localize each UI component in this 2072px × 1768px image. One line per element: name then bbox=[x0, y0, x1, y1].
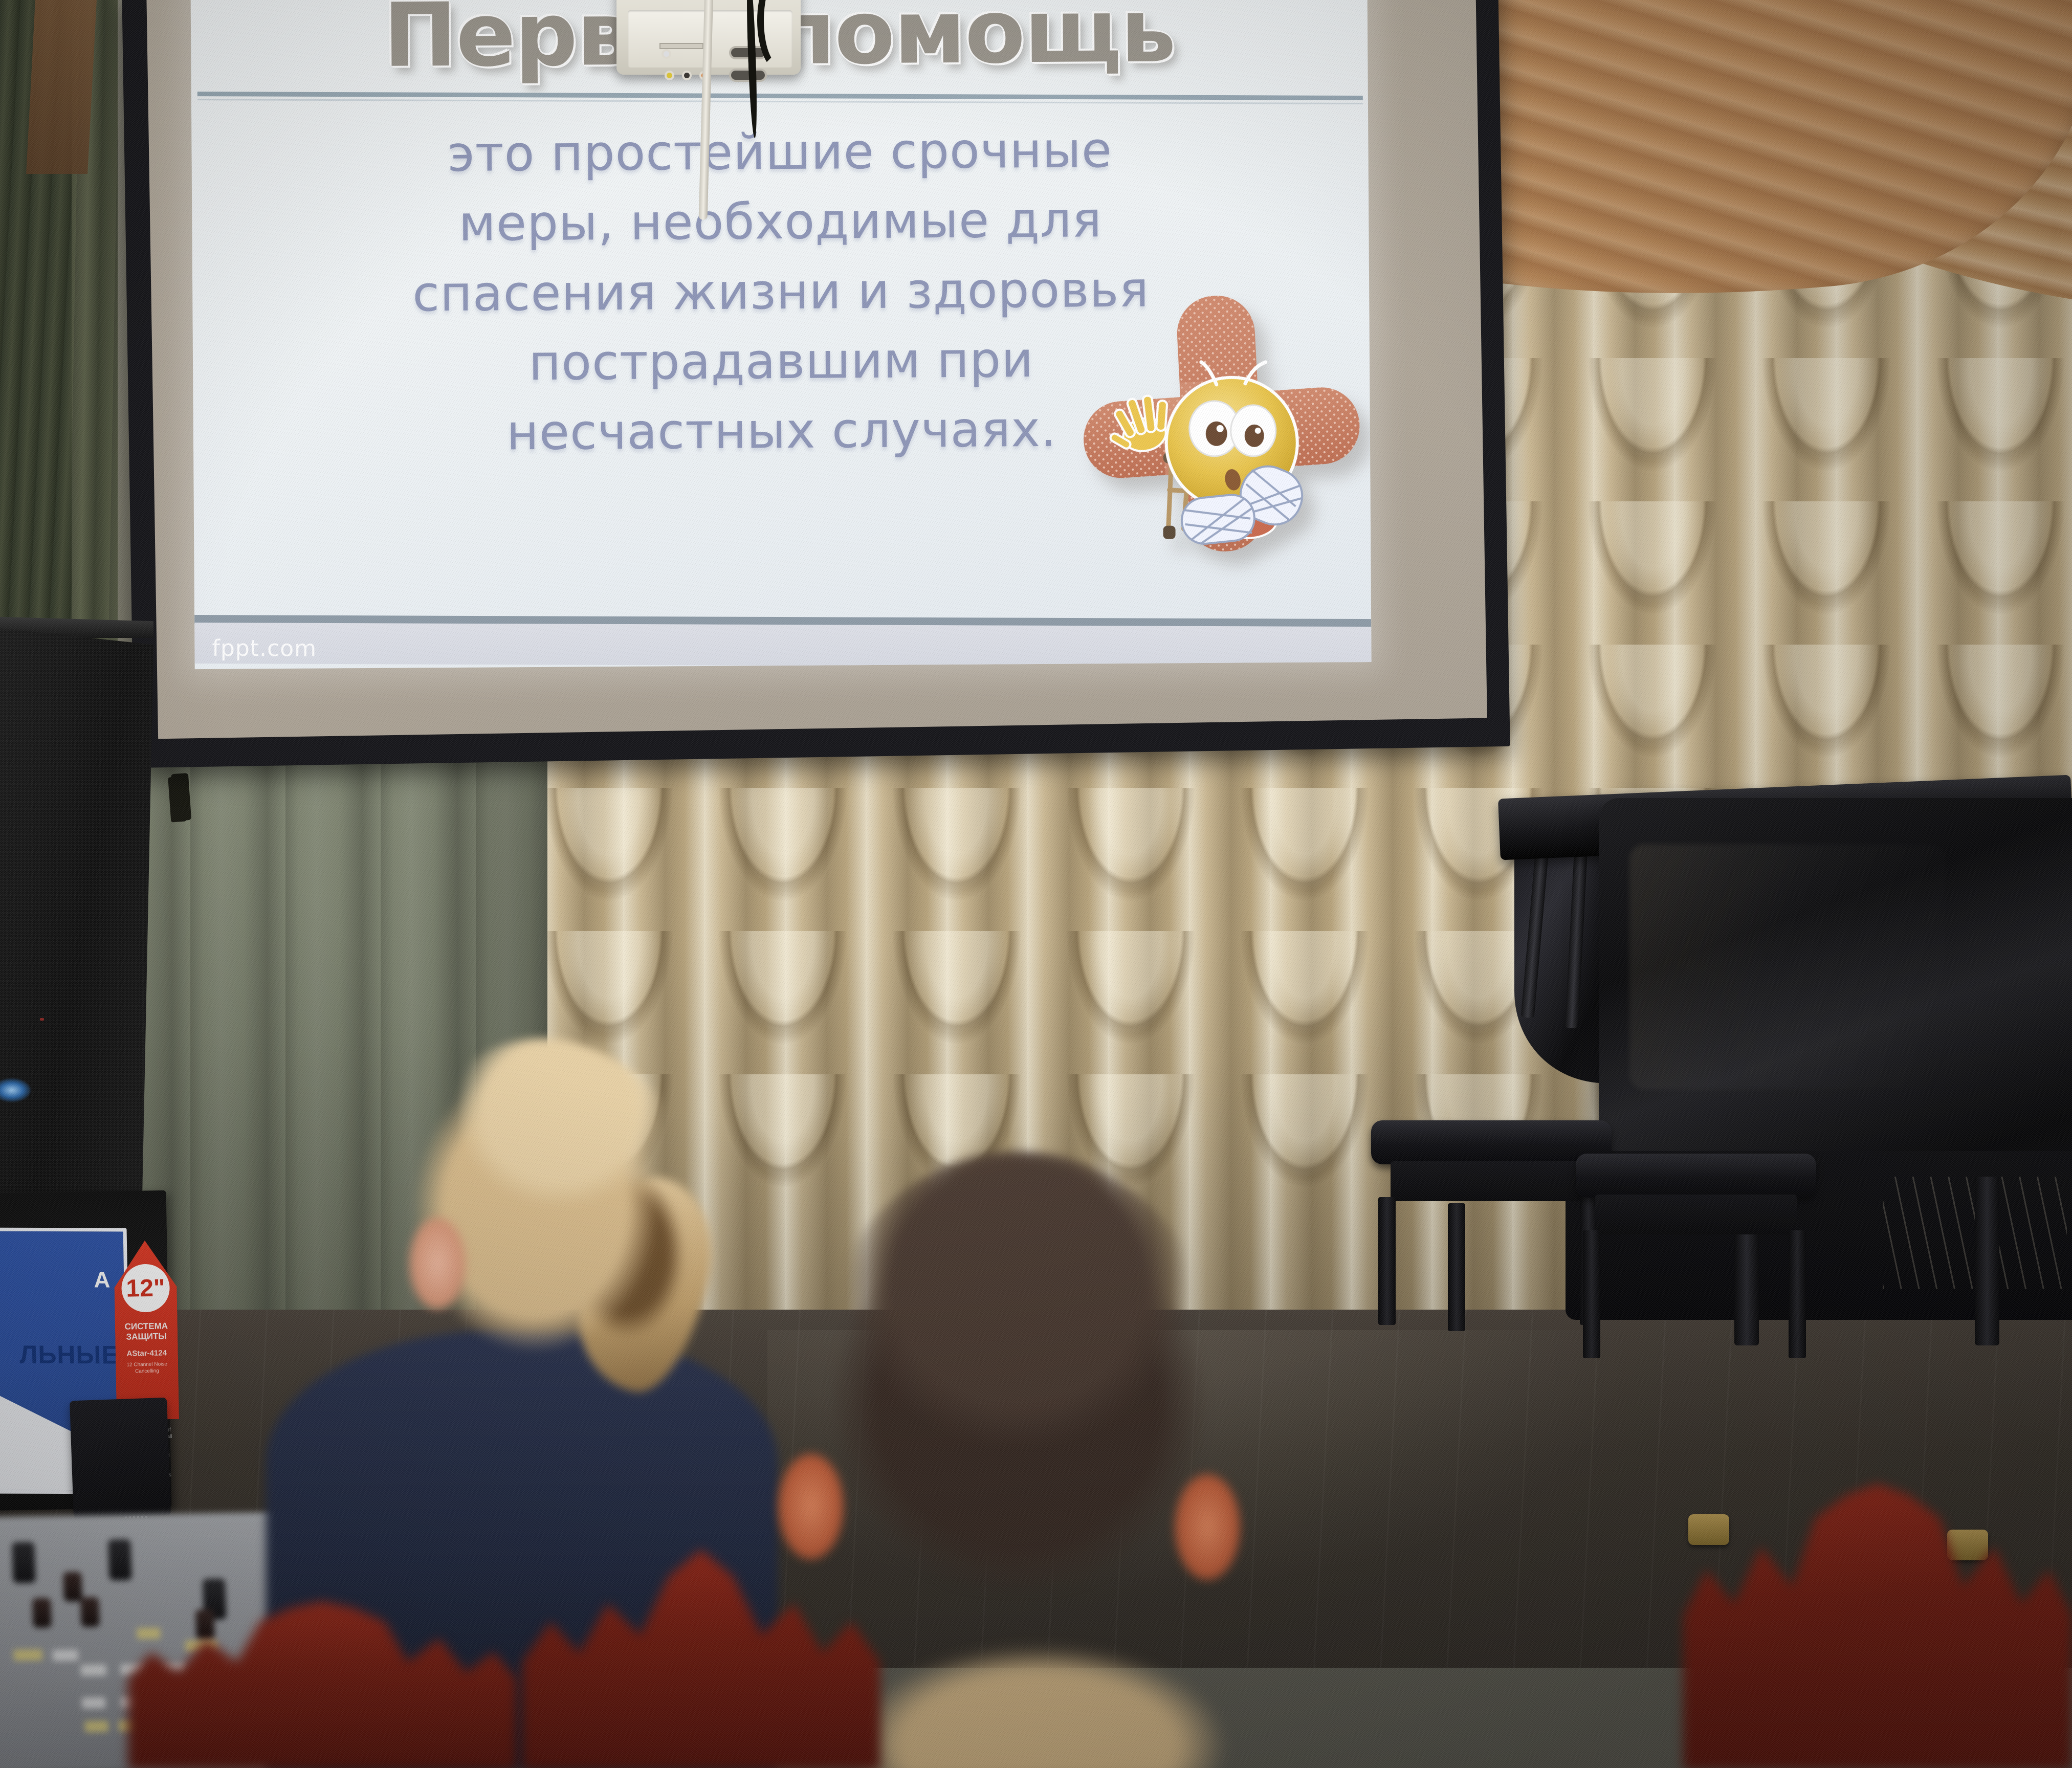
mixer-channel-label bbox=[80, 1664, 106, 1676]
chair-carved-crest bbox=[522, 1545, 880, 1768]
theater-chair-back[interactable] bbox=[1683, 1484, 2072, 1768]
theater-chair-back[interactable] bbox=[522, 1545, 880, 1768]
box-text-top: А bbox=[94, 1267, 111, 1293]
piano-leg bbox=[1975, 1177, 1999, 1345]
auditorium-scene: Первая помощь это простейшие срочные мер… bbox=[0, 0, 2072, 1768]
mixer-knob[interactable] bbox=[32, 1598, 52, 1628]
audience-child-ear-right bbox=[1174, 1473, 1241, 1581]
mixer-knob[interactable] bbox=[108, 1539, 132, 1581]
badge-model: AStar-4124 bbox=[119, 1349, 175, 1358]
box-text-main: ЛЬНЫЕ bbox=[19, 1340, 119, 1370]
vga-port-icon[interactable] bbox=[731, 71, 765, 80]
mixer-knob[interactable] bbox=[63, 1572, 82, 1602]
curtain-hook-icon bbox=[171, 773, 191, 821]
chair-carved-crest bbox=[128, 1601, 517, 1768]
rca-video-yellow-port-icon[interactable] bbox=[665, 71, 674, 80]
badge-size-value: 12" bbox=[121, 1264, 170, 1313]
projection-screen: Первая помощь это простейшие срочные мер… bbox=[122, 0, 1510, 768]
slide-body-line: это простейшие срочные bbox=[237, 114, 1322, 190]
speaker-status-dot-icon bbox=[40, 1018, 44, 1021]
bench-leg bbox=[1583, 1230, 1600, 1358]
theater-chair-back[interactable] bbox=[128, 1601, 517, 1768]
mixer-knob[interactable] bbox=[12, 1542, 36, 1583]
mixer-knob[interactable] bbox=[80, 1597, 100, 1627]
left-brown-drape-sliver bbox=[26, 0, 97, 174]
bench-height-mechanism bbox=[1391, 1161, 1593, 1201]
pa-loudspeaker bbox=[0, 627, 153, 1225]
badge-subtitle: СИСТЕМА ЗАЩИТЫ bbox=[119, 1321, 174, 1342]
badge-fine-print: 12 Channel Noise Cancelling bbox=[119, 1361, 175, 1375]
audience-child-ear-left bbox=[778, 1453, 844, 1560]
mixer-fader[interactable] bbox=[82, 1697, 106, 1709]
rca-audio-white-port-icon[interactable] bbox=[662, 49, 671, 59]
bench-leg bbox=[1378, 1197, 1396, 1325]
audience-person-blonde-ear bbox=[409, 1218, 466, 1310]
bench-leg bbox=[1789, 1230, 1806, 1358]
screen-surface: Первая помощь это простейшие срочные мер… bbox=[146, 0, 1487, 739]
piano-bench-right bbox=[1576, 1154, 1816, 1358]
slide-watermark: fppt.com bbox=[212, 635, 317, 662]
slide-body-line: меры, необходимые для bbox=[238, 184, 1323, 260]
presentation-slide: Первая помощь это простейшие срочные мер… bbox=[191, 0, 1372, 669]
bench-seat bbox=[1576, 1154, 1816, 1198]
projector-slot bbox=[659, 43, 703, 49]
bench-leg bbox=[1448, 1203, 1465, 1331]
bench-height-mechanism bbox=[1595, 1195, 1797, 1234]
first-aid-bandage-illustration bbox=[1063, 290, 1372, 556]
mixer-display-screen[interactable] bbox=[70, 1398, 171, 1518]
slide-footer-band bbox=[194, 623, 1371, 668]
projected-image: Первая помощь это простейшие срочные мер… bbox=[191, 0, 1372, 669]
mixer-channel-label bbox=[52, 1649, 78, 1661]
rca-port-icon[interactable] bbox=[682, 71, 692, 80]
mixer-channel-label bbox=[13, 1649, 42, 1661]
mixer-fader[interactable] bbox=[84, 1720, 108, 1732]
chair-carved-crest bbox=[1683, 1484, 2072, 1768]
